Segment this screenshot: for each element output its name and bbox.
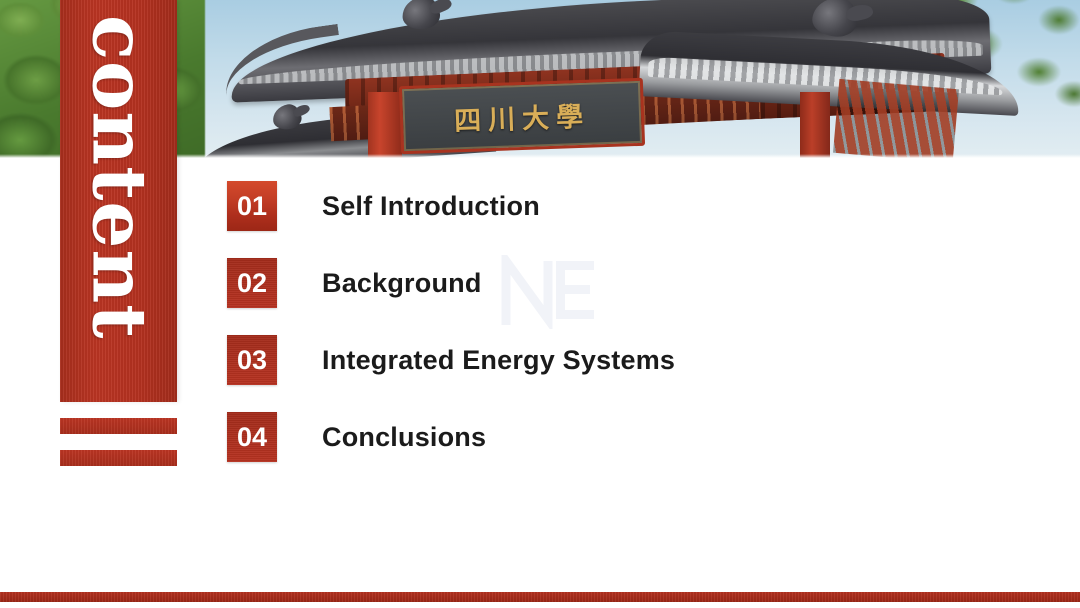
gate-plaque-text: 四川大學 xyxy=(453,94,590,138)
presentation-slide: 四川大學 content 01 Self Introduction xyxy=(0,0,1080,608)
toc-label-04: Conclusions xyxy=(322,412,486,462)
toc-row[interactable]: 01 Self Introduction xyxy=(227,181,1047,258)
content-banner-text: content xyxy=(82,15,156,339)
gate-plaque: 四川大學 xyxy=(399,78,645,154)
toc-number-badge-02: 02 xyxy=(227,258,277,308)
toc-row[interactable]: 03 Integrated Energy Systems xyxy=(227,335,1047,412)
gate-pillar-right xyxy=(800,92,830,158)
right-eave-brackets xyxy=(833,79,959,158)
toc-number-badge-01: 01 xyxy=(227,181,277,231)
toc-row[interactable]: 04 Conclusions xyxy=(227,412,1047,489)
toc-label-01: Self Introduction xyxy=(322,181,540,231)
content-banner: content xyxy=(60,0,177,402)
toc-row[interactable]: 02 Background xyxy=(227,258,1047,335)
decorative-bar-2 xyxy=(60,450,177,466)
bottom-accent-bar xyxy=(0,592,1080,602)
toc-label-02: Background xyxy=(322,258,482,308)
gate-pillar-left xyxy=(368,92,402,158)
toc-number-badge-04: 04 xyxy=(227,412,277,462)
table-of-contents: 01 Self Introduction 02 Background 03 In… xyxy=(227,181,1047,489)
toc-label-03: Integrated Energy Systems xyxy=(322,335,675,385)
decorative-bar-1 xyxy=(60,418,177,434)
toc-number-badge-03: 03 xyxy=(227,335,277,385)
